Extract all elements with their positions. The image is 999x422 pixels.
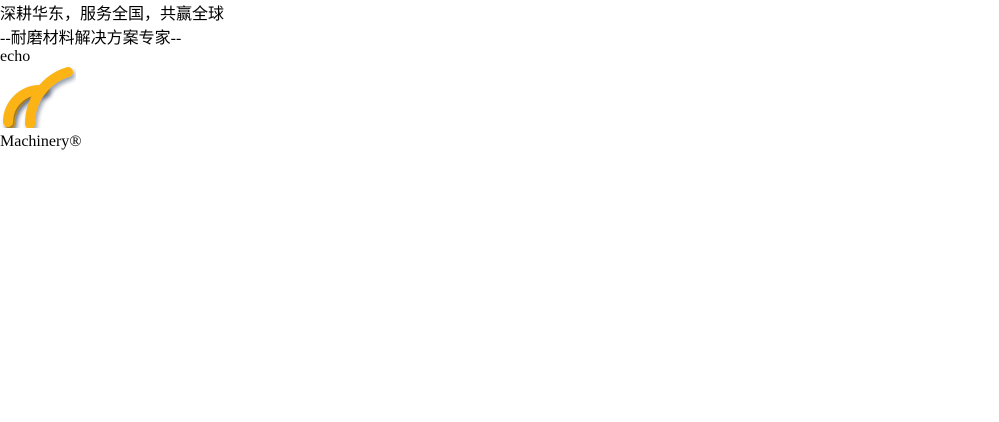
page-title: 深耕华东，服务全国，共赢全球 bbox=[0, 0, 999, 24]
hero-banner: 深耕华东，服务全国，共赢全球 --耐磨材料解决方案专家-- echo bbox=[0, 0, 999, 422]
logo-wordmark: echo bbox=[0, 48, 999, 66]
company-logo[interactable]: echo Machinery® bbox=[0, 48, 999, 151]
logo-wordmark-accent-o: o bbox=[22, 48, 30, 65]
page-subtitle: --耐磨材料解决方案专家-- bbox=[0, 24, 999, 48]
signal-waves-icon bbox=[0, 66, 999, 133]
registered-trademark-icon: ® bbox=[69, 133, 81, 150]
logo-tagline-text: Machinery bbox=[0, 133, 69, 150]
logo-wordmark-prefix: ech bbox=[0, 48, 22, 65]
logo-tagline: Machinery® bbox=[0, 133, 999, 151]
